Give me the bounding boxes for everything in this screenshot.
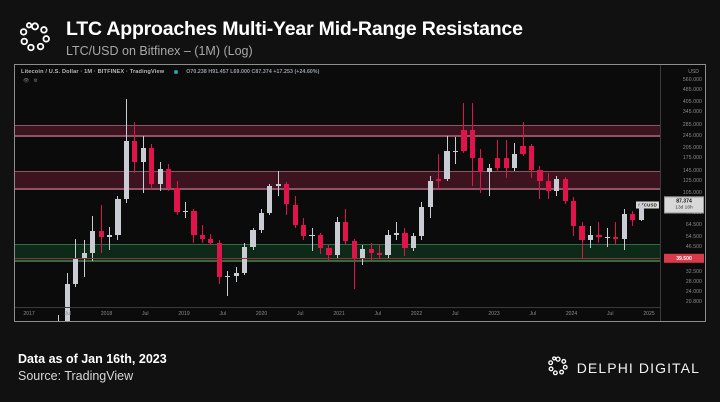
candle-body: [639, 205, 644, 220]
candle-body: [90, 231, 95, 252]
cursor-price-badge: 87.37413d 16h: [664, 196, 704, 213]
candle: [596, 65, 601, 308]
candle: [65, 65, 70, 308]
time-tick: Jul: [529, 311, 536, 317]
last-price-badge: 39.500: [664, 254, 704, 262]
candle: [309, 65, 314, 308]
candle: [208, 65, 213, 308]
time-tick: 2024: [566, 311, 577, 317]
candle: [622, 65, 627, 308]
legend-controls[interactable]: 👁 ⚙: [23, 78, 38, 84]
candle-body: [73, 258, 78, 284]
price-tick: 175.000: [683, 155, 702, 161]
candle-body: [259, 213, 264, 231]
price-tick: 345.000: [683, 109, 702, 115]
candle-body: [107, 235, 112, 237]
candle-body: [512, 154, 517, 167]
candle: [115, 65, 120, 308]
time-tick: 2022: [411, 311, 422, 317]
data-as-of: Data as of Jan 16th, 2023: [18, 351, 167, 368]
candle: [217, 65, 222, 308]
candle: [529, 65, 534, 308]
time-axis[interactable]: 2017Jul2018Jul2019Jul2020Jul2021Jul2022J…: [15, 307, 661, 321]
candle: [234, 65, 239, 308]
time-tick: Jul: [297, 311, 304, 317]
candle-body: [369, 249, 374, 253]
candle-wick: [396, 222, 397, 240]
price-tick: 54.500: [686, 234, 702, 240]
price-tick: 28.000: [686, 279, 702, 285]
header-text: LTC Approaches Multi-Year Mid-Range Resi…: [66, 18, 523, 59]
candle-body: [166, 169, 171, 187]
candle: [90, 65, 95, 308]
candle: [385, 65, 390, 308]
candle: [487, 65, 492, 308]
time-tick: Jul: [142, 311, 149, 317]
candle: [73, 65, 78, 308]
footer-notes: Data as of Jan 16th, 2023 Source: Tradin…: [18, 351, 167, 385]
candle-body: [588, 235, 593, 240]
candle-body: [461, 130, 466, 151]
candle: [360, 65, 365, 308]
candle-wick: [598, 222, 599, 243]
candle-wick: [615, 222, 616, 245]
candle-body: [124, 141, 129, 199]
data-source: Source: TradingView: [18, 368, 167, 385]
time-tick: 2021: [333, 311, 344, 317]
candle: [444, 65, 449, 308]
price-tick: 105.000: [683, 190, 702, 196]
chart-symbol-label: Litecoin / U.S. Dollar · 1M · BITFINEX ·…: [21, 69, 164, 75]
candle: [495, 65, 500, 308]
candle: [183, 65, 188, 308]
delphi-ring-icon: [18, 20, 52, 54]
candle-wick: [185, 202, 186, 219]
candle: [504, 65, 509, 308]
candle-wick: [379, 245, 380, 257]
candle: [124, 65, 129, 308]
candle: [394, 65, 399, 308]
candle-body: [546, 181, 551, 191]
candle-body: [537, 170, 542, 180]
candle-wick: [101, 205, 102, 253]
candle-body: [419, 207, 424, 236]
candle-body: [318, 235, 323, 248]
candle: [563, 65, 568, 308]
candle-body: [309, 235, 314, 236]
candle-body: [613, 237, 618, 239]
candle: [200, 65, 205, 308]
candle-wick: [143, 136, 144, 193]
time-tick: Jul: [219, 311, 226, 317]
candle: [453, 65, 458, 308]
page-title: LTC Approaches Multi-Year Mid-Range Resi…: [66, 18, 523, 40]
candle-wick: [312, 228, 313, 251]
candle: [326, 65, 331, 308]
candle: [630, 65, 635, 308]
candle: [158, 65, 163, 308]
candle-body: [504, 158, 509, 167]
candle: [149, 65, 154, 308]
candle: [39, 65, 44, 308]
candle: [402, 65, 407, 308]
ohlc-values: O70.238 H91.457 L69.000 C87.374 +17.253 …: [186, 69, 319, 75]
gear-icon[interactable]: ⚙: [33, 78, 37, 84]
candle-body: [191, 211, 196, 235]
time-tick: 2023: [488, 311, 499, 317]
price-tick: 20.800: [686, 299, 702, 305]
delphi-wordmark: DELPHI DIGITAL: [577, 360, 700, 376]
price-tick: 125.000: [683, 178, 702, 184]
candle-body: [495, 158, 500, 167]
candle-body: [394, 233, 399, 235]
time-tick: Jul: [607, 311, 614, 317]
price-tick: 285.000: [683, 122, 702, 128]
candle-body: [343, 222, 348, 241]
candle-body: [225, 276, 230, 277]
candle: [225, 65, 230, 308]
candle: [554, 65, 559, 308]
candle-body: [250, 230, 255, 246]
price-tick: 245.000: [683, 133, 702, 139]
price-tick: 32.500: [686, 269, 702, 275]
candle-body: [132, 141, 137, 162]
candle: [166, 65, 171, 308]
candle-body: [284, 184, 289, 204]
candle-body: [377, 253, 382, 255]
candle-body: [293, 205, 298, 225]
candle-body: [267, 186, 272, 212]
candle-body: [554, 179, 559, 190]
candle: [546, 65, 551, 308]
time-tick: 2025: [643, 311, 654, 317]
candle-body: [579, 226, 584, 240]
candle-body: [622, 214, 627, 238]
candle-body: [158, 169, 163, 183]
candle: [352, 65, 357, 308]
time-tick: 2017: [23, 311, 34, 317]
time-tick: 2019: [178, 311, 189, 317]
candle-body: [82, 253, 87, 258]
candle: [343, 65, 348, 308]
candle-wick: [109, 227, 110, 250]
page-subtitle: LTC/USD on Bitfinex – (1M) (Log): [66, 44, 523, 59]
candle: [605, 65, 610, 308]
candle: [520, 65, 525, 308]
candle-body: [217, 243, 222, 277]
candle-body: [174, 188, 179, 212]
candle: [419, 65, 424, 308]
time-tick: 2020: [256, 311, 267, 317]
candle: [259, 65, 264, 308]
price-tick: 24.000: [686, 289, 702, 295]
candle-wick: [438, 154, 439, 189]
candle: [428, 65, 433, 308]
candle: [284, 65, 289, 308]
candle: [639, 65, 644, 308]
status-dot-icon: [174, 70, 178, 74]
candle-body: [436, 179, 441, 181]
candle-body: [208, 239, 213, 243]
candle-body: [301, 225, 306, 236]
header: LTC Approaches Multi-Year Mid-Range Resi…: [0, 0, 720, 64]
candle: [141, 65, 146, 308]
candle-body: [605, 237, 610, 238]
candle: [588, 65, 593, 308]
candle-body: [183, 211, 188, 212]
candle: [132, 65, 137, 308]
candle-body: [242, 247, 247, 273]
price-axis-title: USD: [688, 69, 699, 75]
candle: [293, 65, 298, 308]
time-tick: Jul: [64, 311, 71, 317]
candle: [267, 65, 272, 308]
candle: [470, 65, 475, 308]
candle: [250, 65, 255, 308]
candle-body: [453, 151, 458, 152]
candle: [99, 65, 104, 308]
candle: [56, 65, 61, 308]
time-tick: Jul: [374, 311, 381, 317]
candle-body: [276, 184, 281, 186]
price-tick: 560.000: [683, 77, 702, 83]
candle: [478, 65, 483, 308]
price-tick: 205.000: [683, 145, 702, 151]
candle: [369, 65, 374, 308]
candle: [48, 65, 53, 308]
last-price-line: [15, 258, 661, 259]
candle-body: [444, 151, 449, 179]
tradingview-chart[interactable]: Litecoin / U.S. Dollar · 1M · BITFINEX ·…: [14, 64, 706, 322]
candle-body: [428, 181, 433, 206]
delphi-ring-icon: [547, 355, 569, 382]
candle-body: [141, 148, 146, 163]
chart-canvas[interactable]: Litecoin / U.S. Dollar · 1M · BITFINEX ·…: [15, 65, 705, 321]
candle: [377, 65, 382, 308]
candle: [613, 65, 618, 308]
price-tick: 145.000: [683, 168, 702, 174]
candle: [301, 65, 306, 308]
footer: Data as of Jan 16th, 2023 Source: Tradin…: [0, 322, 720, 402]
candle-body: [411, 236, 416, 248]
candle: [107, 65, 112, 308]
candle-body: [352, 241, 357, 259]
candle: [276, 65, 281, 308]
candle-body: [115, 199, 120, 235]
candle-wick: [202, 225, 203, 243]
candle: [461, 65, 466, 308]
candle: [31, 65, 36, 308]
candle-body: [335, 222, 340, 255]
candle: [191, 65, 196, 308]
candle: [411, 65, 416, 308]
candle-body: [385, 235, 390, 255]
time-tick: 2018: [101, 311, 112, 317]
time-tick: Jul: [452, 311, 459, 317]
candle: [537, 65, 542, 308]
eye-icon[interactable]: 👁: [23, 78, 29, 84]
candle-body: [563, 179, 568, 201]
candle: [82, 65, 87, 308]
price-tick: 64.500: [686, 222, 702, 228]
candle-body: [234, 273, 239, 276]
candle-body: [99, 231, 104, 237]
price-tick: 46.500: [686, 244, 702, 250]
candle-body: [520, 146, 525, 155]
candle-body: [470, 130, 475, 158]
candle-body: [402, 233, 407, 249]
candle: [571, 65, 576, 308]
candle-body: [571, 201, 576, 226]
candle: [335, 65, 340, 308]
footer-logo: DELPHI DIGITAL: [547, 355, 700, 382]
candle-body: [326, 248, 331, 255]
candle: [579, 65, 584, 308]
chart-legend: Litecoin / U.S. Dollar · 1M · BITFINEX ·…: [21, 69, 319, 75]
candle: [512, 65, 517, 308]
candle: [174, 65, 179, 308]
infographic-page: LTC Approaches Multi-Year Mid-Range Resi…: [0, 0, 720, 402]
candle: [436, 65, 441, 308]
price-axis[interactable]: USD 560.000485.000405.000345.000285.0002…: [660, 65, 705, 321]
candle: [242, 65, 247, 308]
candle-body: [487, 168, 492, 173]
candle-body: [200, 235, 205, 239]
candle-body: [630, 214, 635, 220]
candle-wick: [227, 271, 228, 297]
candle-body: [478, 158, 483, 172]
candle-body: [149, 148, 154, 184]
candle: [318, 65, 323, 308]
price-tick: 485.000: [683, 87, 702, 93]
candle-body: [529, 146, 534, 170]
candle-series: [15, 65, 661, 308]
candle-body: [596, 235, 601, 237]
price-tick: 405.000: [683, 99, 702, 105]
